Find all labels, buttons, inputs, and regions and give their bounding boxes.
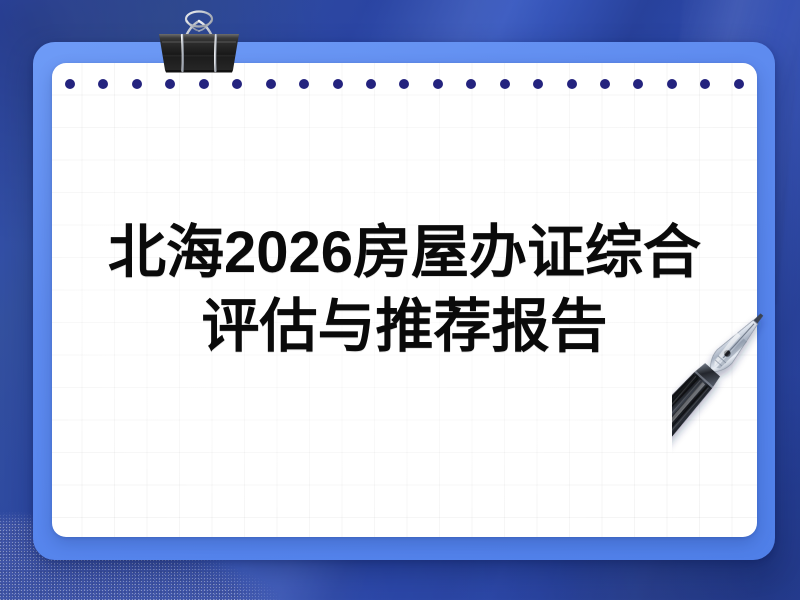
punch-hole-dot <box>333 79 343 89</box>
punch-hole-dot <box>132 79 142 89</box>
punch-hole-dot <box>299 79 309 89</box>
punch-hole-dot <box>399 79 409 89</box>
punch-hole-dot <box>165 79 175 89</box>
binder-clip-icon <box>151 8 247 76</box>
punch-hole-dot <box>633 79 643 89</box>
punch-hole-dot-row <box>52 77 757 91</box>
slide-canvas: 北海2026房屋办证综合 评估与推荐报告 <box>0 0 800 600</box>
punch-hole-dot <box>266 79 276 89</box>
title-line-1: 北海2026房屋办证综合 <box>52 216 757 290</box>
punch-hole-dot <box>600 79 610 89</box>
binder-clip-body <box>159 34 239 73</box>
punch-hole-dot <box>667 79 677 89</box>
punch-hole-dot <box>700 79 710 89</box>
punch-hole-dot <box>734 79 744 89</box>
punch-hole-dot <box>567 79 577 89</box>
punch-hole-dot <box>366 79 376 89</box>
title-line-2: 评估与推荐报告 <box>52 290 757 364</box>
punch-hole-dot <box>433 79 443 89</box>
punch-hole-dot <box>199 79 209 89</box>
punch-hole-dot <box>65 79 75 89</box>
punch-hole-dot <box>232 79 242 89</box>
punch-hole-dot <box>533 79 543 89</box>
punch-hole-dot <box>98 79 108 89</box>
punch-hole-dot <box>466 79 476 89</box>
page-title: 北海2026房屋办证综合 评估与推荐报告 <box>52 216 757 364</box>
punch-hole-dot <box>500 79 510 89</box>
